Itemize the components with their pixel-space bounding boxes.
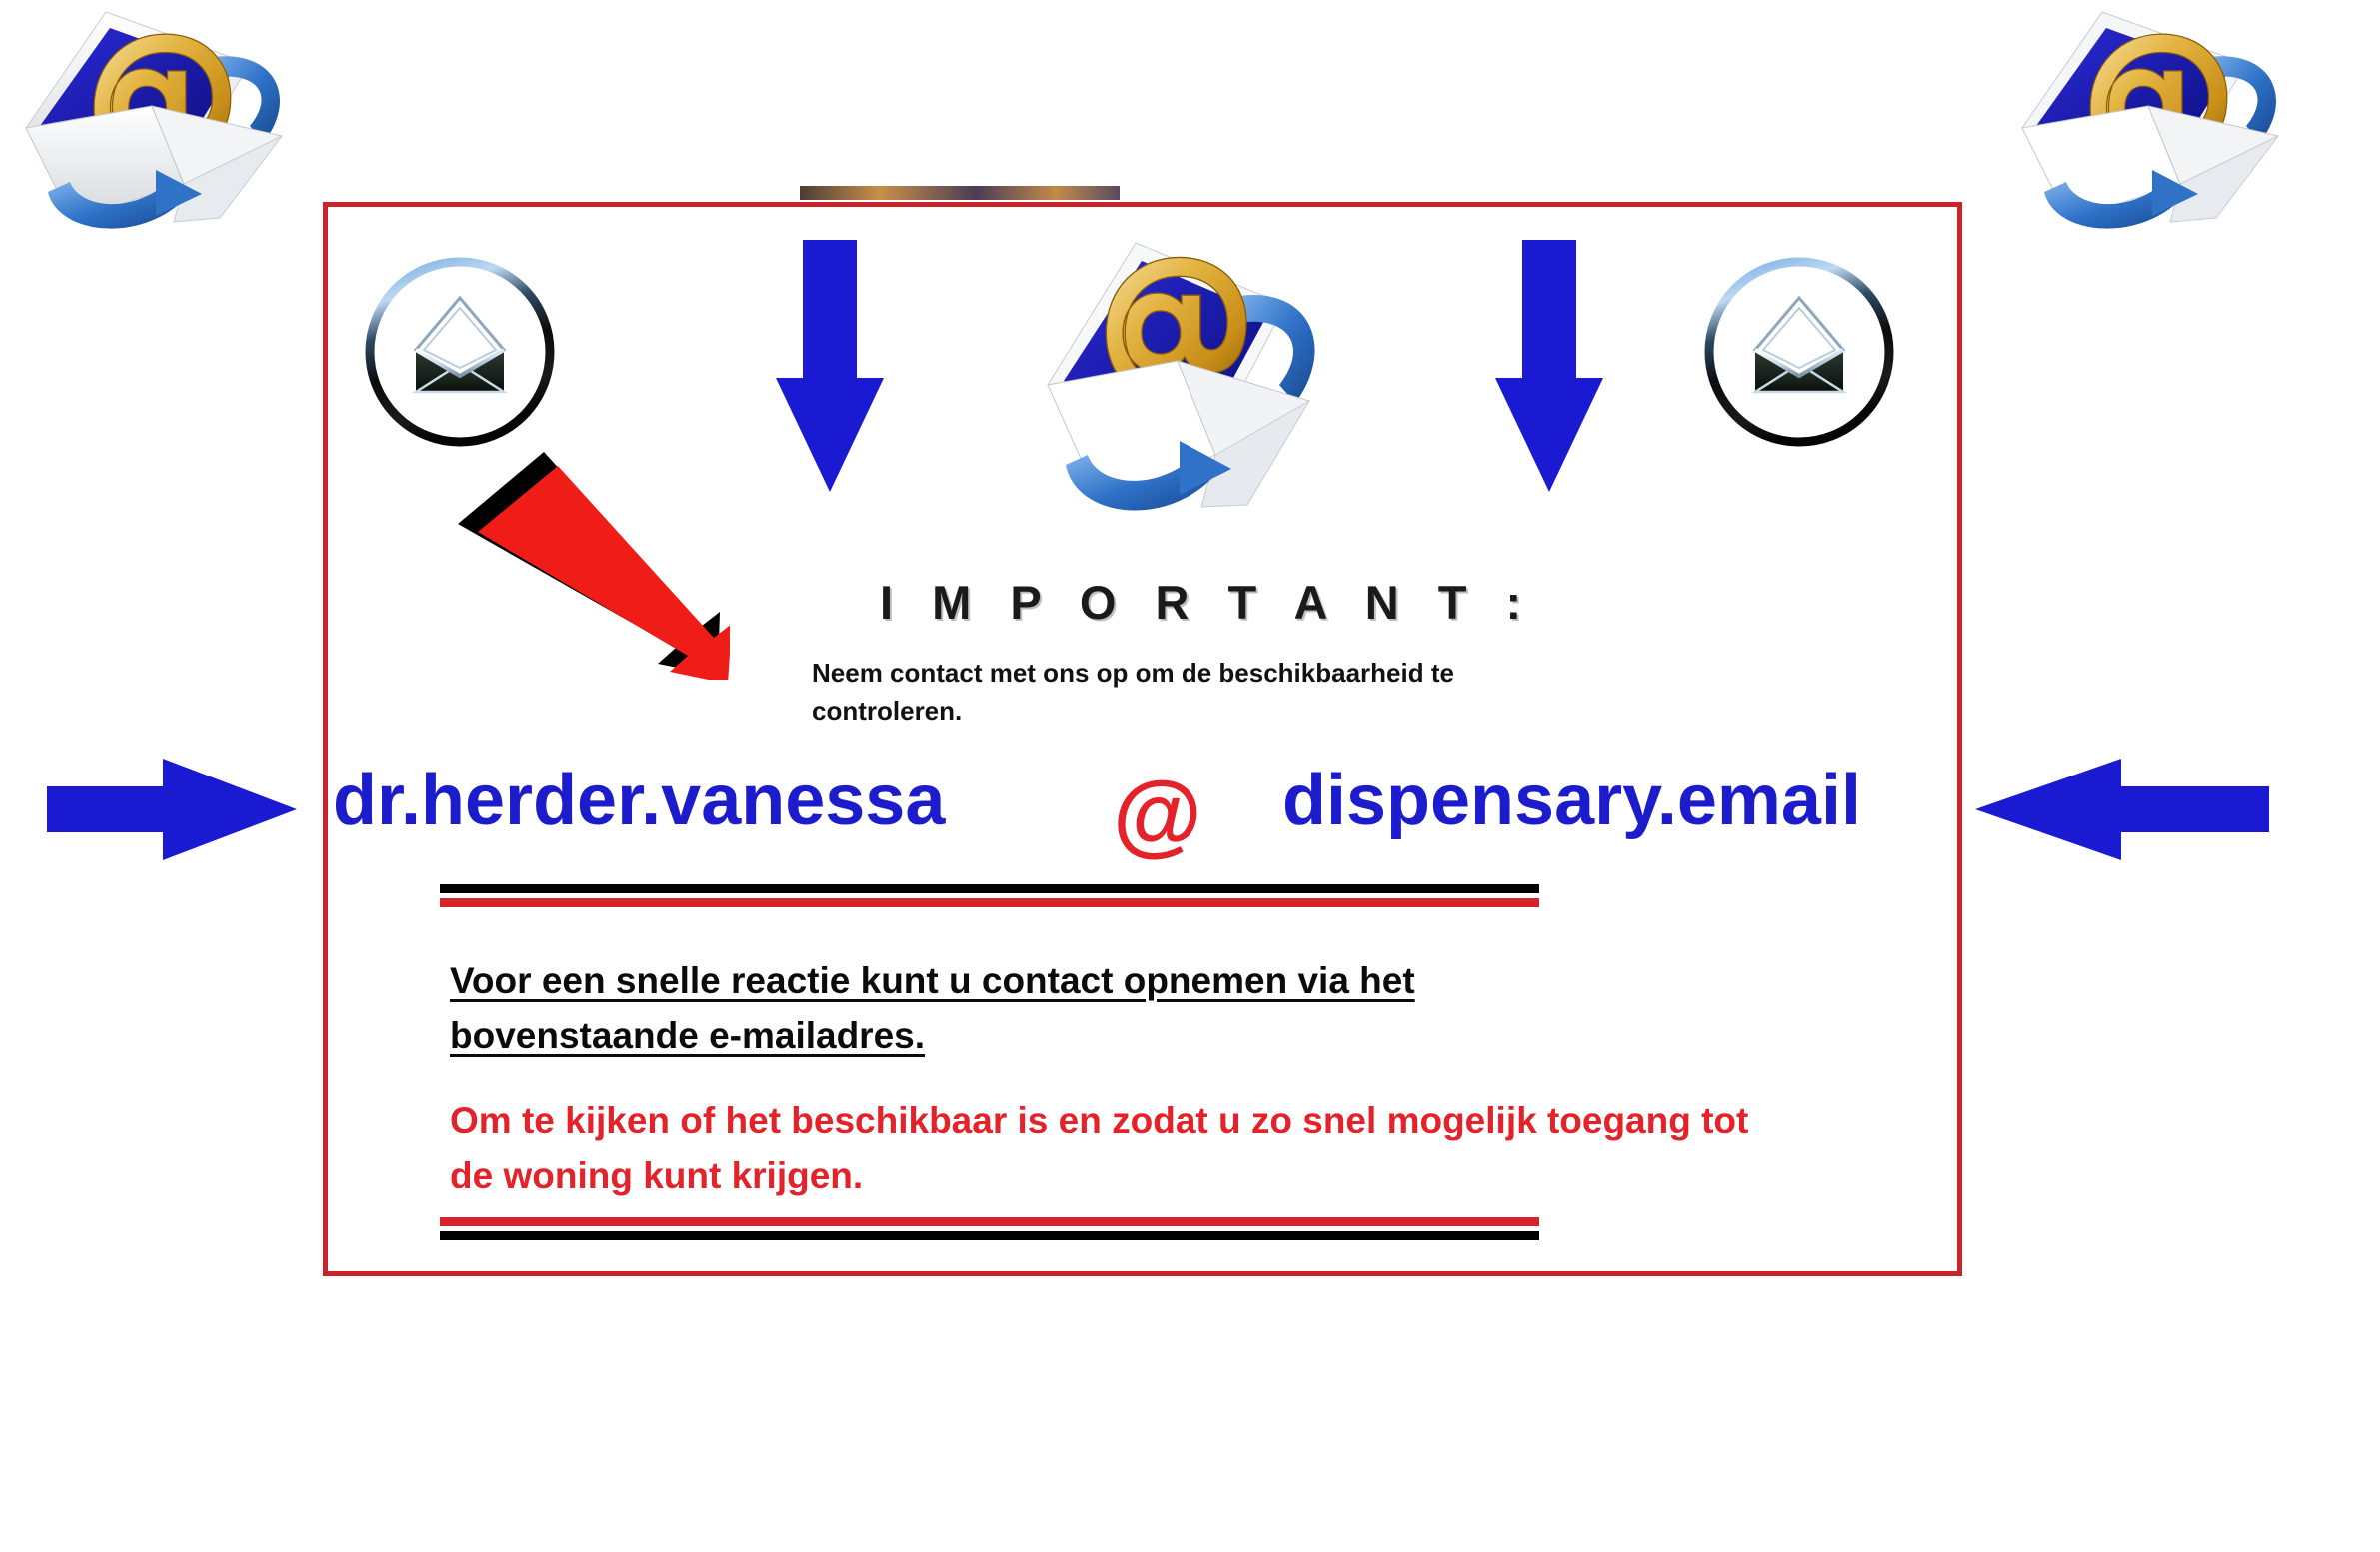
instruction-black: Voor een snelle reactie kunt u contact o… bbox=[450, 954, 1599, 1064]
blue-right-arrow-icon bbox=[45, 755, 300, 864]
clipped-top-artifact bbox=[800, 186, 1120, 200]
email-at-envelope-icon bbox=[0, 0, 318, 236]
red-diagonal-arrow-icon bbox=[440, 440, 730, 680]
instruction-red: Om te kijken of het beschikbaar is en zo… bbox=[450, 1094, 1749, 1204]
blue-left-arrow-icon bbox=[1971, 755, 2271, 864]
email-domain-part[interactable]: dispensary.email bbox=[1282, 765, 1861, 836]
divider-black-bar bbox=[440, 1231, 1539, 1240]
email-at-envelope-icon bbox=[1984, 0, 2314, 236]
important-heading: I M P O R T A N T : bbox=[880, 575, 1534, 630]
email-at-symbol: @ bbox=[1113, 769, 1202, 860]
divider-top bbox=[440, 884, 1539, 907]
email-address-row[interactable]: dr.herder.vanessa @ dispensary.email bbox=[323, 755, 1962, 874]
divider-black-bar bbox=[440, 884, 1539, 893]
divider-red-bar bbox=[440, 898, 1539, 907]
blue-down-arrow-icon bbox=[1489, 236, 1609, 496]
poster-canvas: I M P O R T A N T : Neem contact met ons… bbox=[0, 0, 2380, 1552]
blue-down-arrow-icon bbox=[770, 236, 890, 496]
divider-bottom bbox=[440, 1217, 1539, 1240]
email-local-part[interactable]: dr.herder.vanessa bbox=[333, 765, 945, 836]
instruction-black-text: Voor een snelle reactie kunt u contact o… bbox=[450, 960, 1415, 1056]
important-subheading: Neem contact met ons op om de beschikbaa… bbox=[812, 655, 1611, 730]
divider-red-bar bbox=[440, 1217, 1539, 1226]
